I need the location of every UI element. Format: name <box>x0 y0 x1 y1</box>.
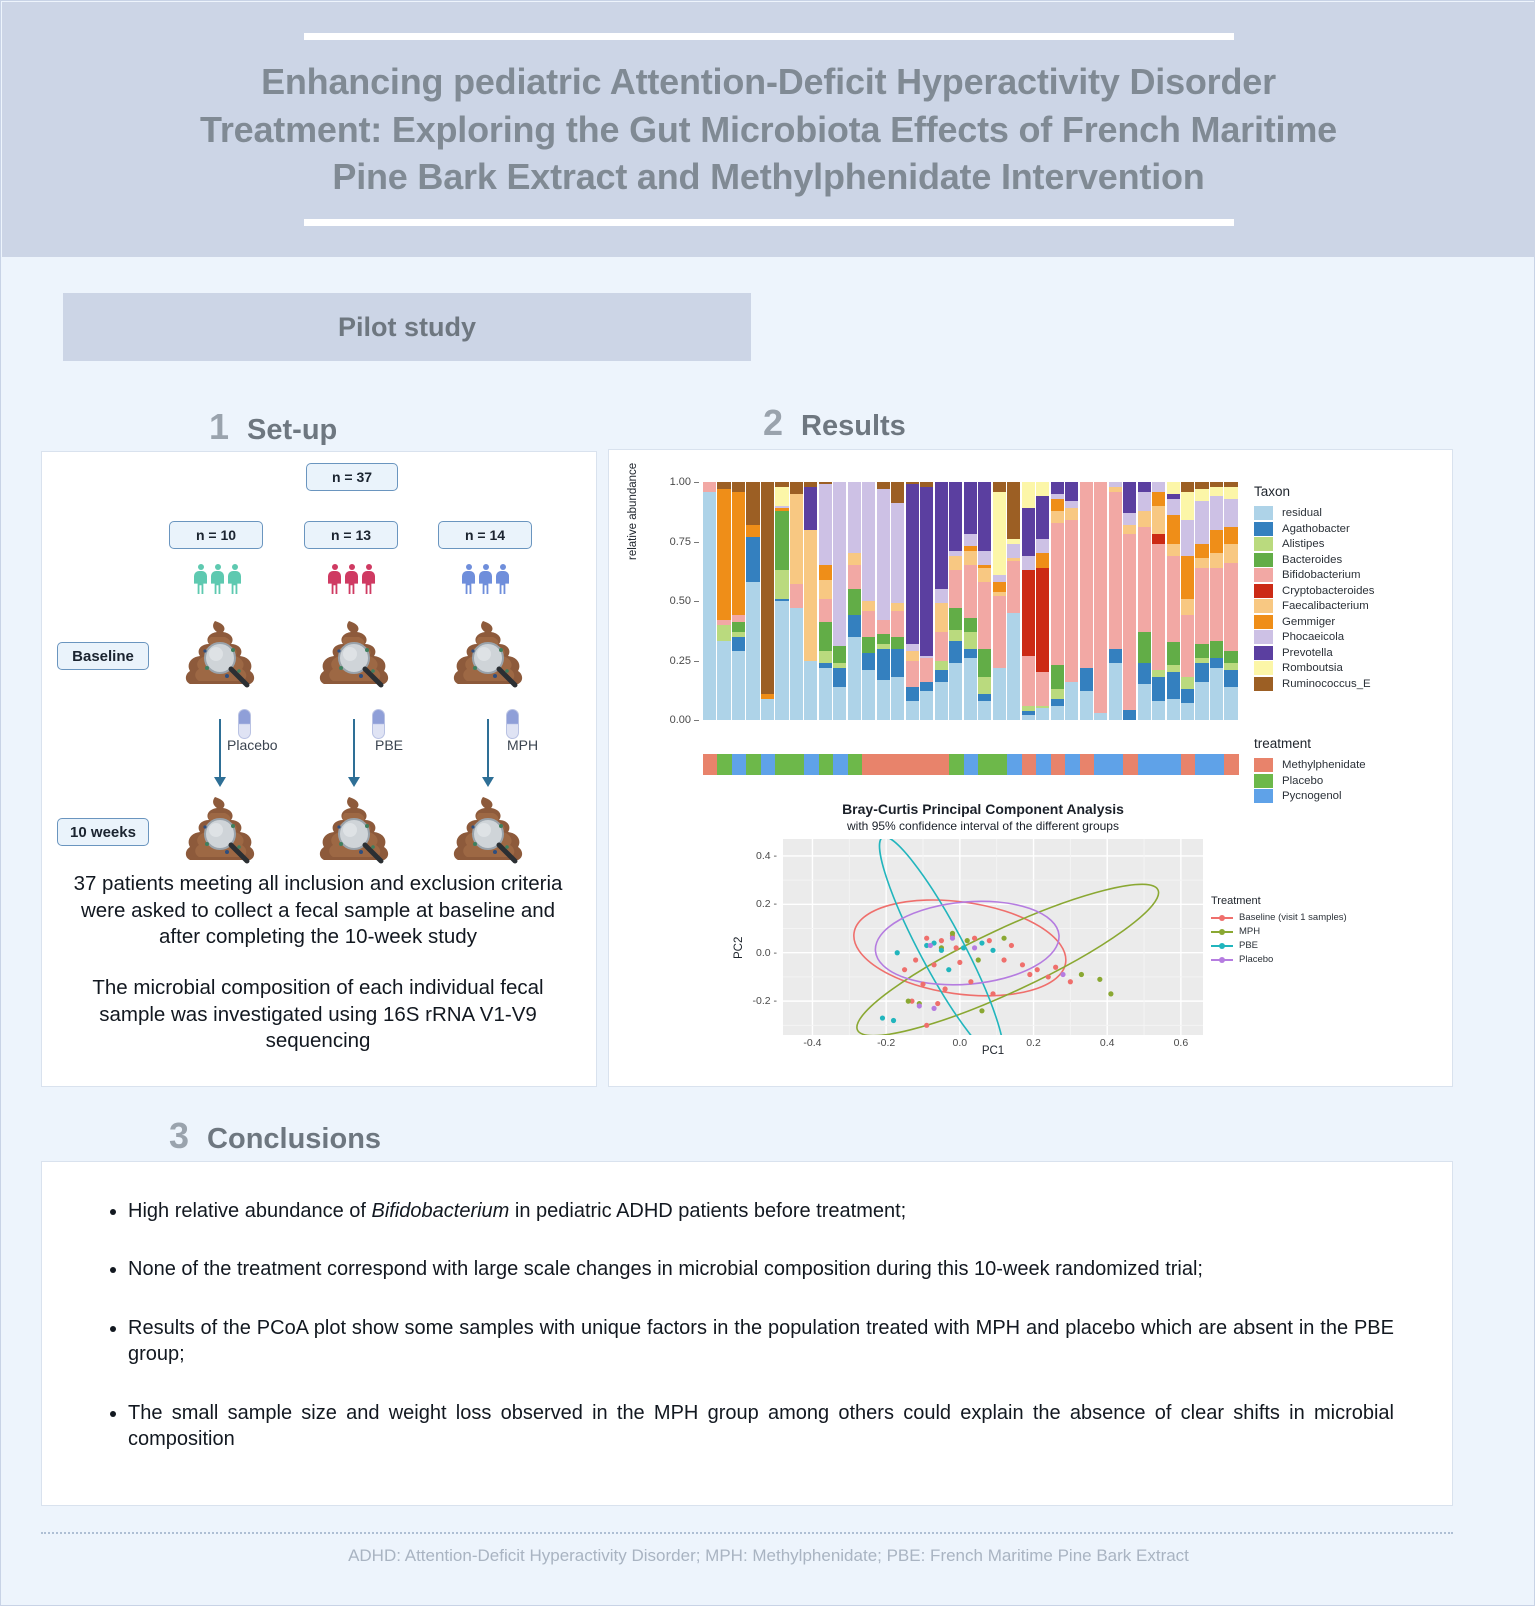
bar-segment <box>1138 482 1151 492</box>
bar-chart-column <box>717 482 730 720</box>
bar-segment <box>1210 668 1223 720</box>
taxon-legend-label: Phocaeicola <box>1282 631 1344 643</box>
treatment-strip-cell <box>848 754 862 775</box>
bar-chart-column <box>1224 482 1237 720</box>
bar-y-tick-mark <box>694 542 699 543</box>
bar-chart-column <box>1094 482 1107 720</box>
pcoa-legend-row: Placebo <box>1211 954 1411 965</box>
bar-segment <box>978 551 991 565</box>
pcoa-legend-label: PBE <box>1239 940 1258 951</box>
bar-segment <box>949 482 962 551</box>
footer-divider <box>41 1532 1453 1534</box>
setup-paragraph-1: 37 patients meeting all inclusion and ex… <box>63 871 573 951</box>
bar-segment <box>906 687 919 701</box>
bar-segment <box>1123 513 1136 525</box>
taxon-legend-label: Cryptobacteroides <box>1282 585 1374 597</box>
taxon-legend-label: Gemmiger <box>1282 616 1335 628</box>
bar-y-tick-label: 0.50 <box>670 595 691 607</box>
pcoa-scatter-chart: Bray-Curtis Principal Component Analysis… <box>703 799 1423 1069</box>
bar-segment <box>717 482 730 489</box>
bar-segment <box>862 611 875 637</box>
bar-chart-column <box>906 482 919 720</box>
bar-segment <box>746 525 759 537</box>
bar-segment <box>1210 658 1223 668</box>
bar-segment <box>1080 668 1093 692</box>
bar-segment <box>993 596 1006 667</box>
bar-chart-y-ticks: 0.000.250.500.751.00 <box>645 482 699 720</box>
treatment-legend-rows: MethylphenidatePlaceboPycnogenol <box>1254 758 1434 803</box>
treatment-strip-cell <box>993 754 1007 775</box>
treatment-legend-swatch <box>1254 758 1273 772</box>
bar-segment <box>891 677 904 720</box>
conclusions-panel: High relative abundance of Bifidobacteri… <box>41 1161 1453 1506</box>
pcoa-svg <box>783 839 1203 1035</box>
bar-segment <box>703 482 716 492</box>
treatment-strip-cell <box>790 754 804 775</box>
treatment-strip-cell <box>1022 754 1036 775</box>
bar-segment <box>1051 665 1064 689</box>
taxon-legend-swatch <box>1254 553 1273 567</box>
bar-segment <box>1138 684 1151 720</box>
section-number-setup: 1 <box>209 406 229 448</box>
bar-segment <box>1051 699 1064 706</box>
bar-segment <box>732 492 745 616</box>
bar-chart-column <box>732 482 745 720</box>
bar-segment <box>1152 482 1165 492</box>
bar-segment <box>906 661 919 687</box>
bar-segment <box>862 482 875 601</box>
bar-segment <box>833 687 846 720</box>
treatment-legend-label: Methylphenidate <box>1282 759 1366 771</box>
bar-segment <box>1195 482 1208 489</box>
taxon-legend-row: Bifidobacterium <box>1254 568 1434 582</box>
taxon-legend-swatch <box>1254 630 1273 644</box>
treatment-legend-row: Methylphenidate <box>1254 758 1434 772</box>
bar-segment <box>1109 649 1122 663</box>
bar-segment <box>1195 501 1208 544</box>
treatment-strip-cell <box>804 754 818 775</box>
bar-segment <box>1080 691 1093 720</box>
treatment-legend-row: Placebo <box>1254 774 1434 788</box>
bar-segment <box>1167 672 1180 698</box>
bar-y-tick-label: 0.25 <box>670 655 691 667</box>
bar-segment <box>804 661 817 721</box>
bar-segment <box>1181 482 1194 492</box>
stool-sample-icon <box>449 789 527 867</box>
pcoa-x-axis-label: PC1 <box>783 1045 1203 1057</box>
treatment-strip-cell <box>906 754 920 775</box>
treatment-strip-cell <box>1007 754 1021 775</box>
pcoa-legend: Treatment Baseline (visit 1 samples)MPHP… <box>1211 895 1411 968</box>
bar-chart-column <box>790 482 803 720</box>
person-icon <box>228 564 241 594</box>
bar-segment <box>964 565 977 617</box>
pcoa-legend-label: Baseline (visit 1 samples) <box>1239 912 1347 923</box>
bar-segment <box>833 668 846 687</box>
footer-abbreviations: ADHD: Attention-Deficit Hyperactivity Di… <box>1 1546 1535 1566</box>
bar-segment <box>920 682 933 692</box>
treatment-strip-cell <box>1051 754 1065 775</box>
bar-segment <box>935 482 948 589</box>
bar-segment <box>1167 642 1180 666</box>
bar-segment <box>920 691 933 720</box>
bar-segment <box>1138 527 1151 632</box>
bar-segment <box>1007 544 1020 558</box>
bar-segment <box>935 632 948 661</box>
bar-chart-column <box>819 482 832 720</box>
bar-segment <box>1195 544 1208 558</box>
taxon-legend-label: residual <box>1282 507 1322 519</box>
bar-segment <box>1022 556 1035 570</box>
pcoa-legend-row: MPH <box>1211 926 1411 937</box>
treatment-strip-cell <box>1195 754 1209 775</box>
bar-segment <box>790 482 803 494</box>
taxon-legend-row: Phocaeicola <box>1254 630 1434 644</box>
treatment-strip-cell <box>1080 754 1094 775</box>
bar-segment <box>1195 663 1208 682</box>
bar-segment <box>1022 656 1035 706</box>
treatment-strip-cell <box>1109 754 1123 775</box>
pcoa-legend-rows: Baseline (visit 1 samples)MPHPBEPlacebo <box>1211 912 1411 965</box>
bar-segment <box>993 482 1006 492</box>
bar-chart-column <box>1123 482 1136 720</box>
taxon-legend-row: Faecalibacterium <box>1254 599 1434 613</box>
bar-segment <box>1123 525 1136 535</box>
bar-segment <box>862 601 875 611</box>
bar-segment <box>877 482 890 489</box>
bar-segment <box>1210 641 1223 658</box>
bar-segment <box>978 694 991 701</box>
bar-chart-column <box>1036 482 1049 720</box>
bar-segment <box>1181 492 1194 521</box>
bar-segment <box>1007 482 1020 539</box>
treatment-strip-cell <box>964 754 978 775</box>
setup-paragraph-2: The microbial composition of each indivi… <box>63 975 573 1055</box>
treatment-strip-cell <box>891 754 905 775</box>
taxon-legend-row: Cryptobacteroides <box>1254 584 1434 598</box>
bar-segment <box>1022 715 1035 720</box>
treatment-strip-cell <box>746 754 760 775</box>
pcoa-y-tick-label: 0.0 ‑ <box>743 947 777 959</box>
treatment-strip-cell <box>775 754 789 775</box>
header-rule-bottom <box>304 219 1234 226</box>
bar-segment <box>877 634 890 644</box>
bar-segment <box>1224 527 1237 544</box>
treatment-strip-cell <box>1036 754 1050 775</box>
taxon-legend-label: Bifidobacterium <box>1282 569 1361 581</box>
bar-segment <box>964 658 977 720</box>
bar-segment <box>1152 506 1165 535</box>
bar-segment <box>1109 492 1122 649</box>
capsule-icon <box>238 709 251 739</box>
bar-segment <box>949 570 962 608</box>
section-heading-setup: 1 Set-up <box>209 406 337 448</box>
bar-segment <box>1022 570 1035 656</box>
taxon-legend-title: Taxon <box>1254 484 1434 499</box>
pcoa-plot-area <box>783 839 1203 1035</box>
bar-chart-column <box>761 482 774 720</box>
bar-segment <box>1036 482 1049 496</box>
bar-segment <box>1181 599 1194 616</box>
bar-segment <box>1152 544 1165 670</box>
bar-chart-column <box>891 482 904 720</box>
bar-segment <box>775 511 788 571</box>
bar-segment <box>746 482 759 525</box>
bar-chart-column <box>848 482 861 720</box>
bar-segment <box>732 615 745 622</box>
bar-chart-column <box>746 482 759 720</box>
bar-segment <box>964 618 977 632</box>
bar-segment <box>1036 708 1049 720</box>
bar-chart-column <box>775 482 788 720</box>
bar-segment <box>717 641 730 720</box>
bar-segment <box>1065 520 1078 682</box>
bar-segment <box>1224 670 1237 687</box>
bar-segment <box>1152 492 1165 506</box>
bar-segment <box>1036 496 1049 539</box>
taxon-legend-label: Romboutsia <box>1282 662 1343 674</box>
bar-segment <box>891 611 904 637</box>
person-icon <box>328 564 341 594</box>
bar-segment <box>1181 520 1194 556</box>
bar-chart-column <box>1210 482 1223 720</box>
bar-segment <box>862 637 875 654</box>
bar-segment <box>949 641 962 662</box>
person-icon <box>194 564 207 594</box>
bar-chart-column <box>1181 482 1194 720</box>
bar-segment <box>993 575 1006 582</box>
bar-segment <box>978 582 991 649</box>
bar-segment <box>862 653 875 670</box>
person-icon <box>496 564 509 594</box>
pcoa-y-tick-label: 0.2 ‑ <box>743 898 777 910</box>
bar-segment <box>732 637 745 651</box>
bar-segment <box>1065 682 1078 720</box>
pcoa-x-tick-label: 0.2 <box>1026 1037 1041 1049</box>
bar-chart-column <box>1080 482 1093 720</box>
treatment-strip-cell <box>703 754 717 775</box>
timepoint-followup-label: 10 weeks <box>57 818 149 846</box>
taxon-legend-row: Alistipes <box>1254 537 1434 551</box>
page-title: Enhancing pediatric Attention-Deficit Hy… <box>174 58 1364 202</box>
bar-segment <box>833 646 846 663</box>
treatment-strip-cell <box>1094 754 1108 775</box>
taxon-legend-swatch <box>1254 568 1273 582</box>
setup-description: 37 patients meeting all inclusion and ex… <box>63 871 573 1055</box>
bar-segment <box>978 482 991 551</box>
patient-group-2-icons <box>328 564 375 594</box>
bar-segment <box>993 582 1006 592</box>
pcoa-title: Bray-Curtis Principal Component Analysis <box>773 801 1193 817</box>
bar-segment <box>1109 663 1122 720</box>
bar-segment <box>732 651 745 720</box>
bar-y-tick-label: 1.00 <box>670 476 691 488</box>
bar-chart-column <box>1109 482 1122 720</box>
stacked-bar-chart: relative abundance 0.000.250.500.751.00 <box>631 474 1239 734</box>
sample-size-total-box: n = 37 <box>306 463 398 491</box>
bar-segment <box>964 551 977 565</box>
pcoa-subtitle: with 95% confidence interval of the diff… <box>743 819 1223 833</box>
taxon-legend-row: Agathobacter <box>1254 522 1434 536</box>
treatment-strip-cell <box>1123 754 1137 775</box>
bar-segment <box>978 677 991 694</box>
bar-segment <box>906 701 919 720</box>
section-number-conclusions: 3 <box>169 1115 189 1157</box>
pilot-study-banner: Pilot study <box>63 293 751 361</box>
bar-segment <box>1210 487 1223 497</box>
bar-segment <box>848 589 861 615</box>
bar-segment <box>891 482 904 503</box>
bar-chart-column <box>993 482 1006 720</box>
bar-segment <box>877 620 890 634</box>
bar-segment <box>819 484 832 565</box>
taxon-legend-row: Gemmiger <box>1254 615 1434 629</box>
bar-segment <box>978 649 991 678</box>
pcoa-legend-title: Treatment <box>1211 895 1411 907</box>
conclusion-item: High relative abundance of Bifidobacteri… <box>128 1198 1394 1224</box>
bar-segment <box>746 582 759 720</box>
bar-chart-column <box>935 482 948 720</box>
taxon-legend-swatch <box>1254 646 1273 660</box>
bar-segment <box>1181 556 1194 599</box>
bar-segment <box>1210 530 1223 554</box>
bar-segment <box>746 537 759 582</box>
bar-chart-column <box>1007 482 1020 720</box>
stool-sample-icon <box>181 789 259 867</box>
treatment-strip-cell <box>949 754 963 775</box>
header-rule-top <box>304 33 1234 40</box>
bar-chart-column <box>964 482 977 720</box>
bar-y-tick-mark <box>694 720 699 721</box>
bar-segment <box>1036 539 1049 553</box>
bar-segment <box>877 489 890 620</box>
bar-segment <box>819 651 832 663</box>
bar-segment <box>935 670 948 682</box>
bar-segment <box>1065 501 1078 508</box>
treatment-legend-title: treatment <box>1254 736 1434 751</box>
taxon-legend-swatch <box>1254 661 1273 675</box>
bar-segment <box>819 668 832 720</box>
sample-size-group-3-box: n = 14 <box>438 521 532 549</box>
stool-sample-icon <box>315 789 393 867</box>
bar-segment <box>1152 670 1165 677</box>
bar-segment <box>935 682 948 720</box>
bar-segment <box>819 622 832 651</box>
capsule-icon <box>372 709 385 739</box>
patient-group-1-icons <box>194 564 241 594</box>
bar-segment <box>906 644 919 651</box>
bar-chart-column <box>920 482 933 720</box>
bar-segment <box>1224 663 1237 670</box>
bar-segment <box>1051 689 1064 699</box>
bar-segment <box>949 608 962 629</box>
person-icon <box>211 564 224 594</box>
taxon-legend-swatch <box>1254 522 1273 536</box>
bar-segment <box>1195 489 1208 501</box>
bar-segment <box>717 489 730 620</box>
bar-segment <box>1065 508 1078 520</box>
treatment-legend-swatch <box>1254 774 1273 788</box>
section-label-results: Results <box>801 410 906 443</box>
bar-segment <box>1007 613 1020 720</box>
pcoa-legend-label: Placebo <box>1239 954 1273 965</box>
pcoa-x-tick-label: 0.6 <box>1174 1037 1189 1049</box>
bar-segment <box>1181 703 1194 720</box>
bar-segment <box>1152 534 1165 544</box>
treatment-legend: treatment MethylphenidatePlaceboPycnogen… <box>1254 736 1434 805</box>
taxon-legend-swatch <box>1254 537 1273 551</box>
bar-segment <box>703 492 716 720</box>
bar-segment <box>1007 561 1020 613</box>
taxon-legend-label: Prevotella <box>1282 647 1333 659</box>
graphical-abstract-page: Enhancing pediatric Attention-Deficit Hy… <box>0 0 1535 1606</box>
bar-segment <box>1195 644 1208 658</box>
taxon-legend-label: Alistipes <box>1282 538 1324 550</box>
capsule-icon <box>506 709 519 739</box>
bar-segment <box>891 503 904 603</box>
bar-segment <box>1195 682 1208 720</box>
treatment-legend-label: Placebo <box>1282 775 1323 787</box>
bar-segment <box>1181 677 1194 689</box>
bar-segment <box>877 649 890 680</box>
bar-segment <box>891 603 904 610</box>
pcoa-legend-row: PBE <box>1211 940 1411 951</box>
treatment-strip-cell <box>920 754 934 775</box>
taxon-legend-label: Faecalibacterium <box>1282 600 1369 612</box>
treatment-strip-cell <box>1181 754 1195 775</box>
treatment-strip-cell <box>1167 754 1181 775</box>
bar-segment <box>1167 556 1180 642</box>
conclusions-list: High relative abundance of Bifidobacteri… <box>104 1198 1394 1452</box>
bar-segment <box>1036 672 1049 705</box>
sample-size-group-2-box: n = 13 <box>304 521 398 549</box>
bar-segment <box>1022 482 1035 508</box>
bar-segment <box>1210 568 1223 642</box>
conclusion-item: The small sample size and weight loss ob… <box>128 1400 1394 1453</box>
pilot-study-label: Pilot study <box>338 312 476 343</box>
conclusion-text: High relative abundance of <box>128 1200 372 1222</box>
treatment-strip-cell <box>877 754 891 775</box>
person-icon <box>479 564 492 594</box>
bar-segment <box>819 580 832 599</box>
bar-chart-column <box>1195 482 1208 720</box>
bar-segment <box>906 651 919 661</box>
bar-chart-column <box>1138 482 1151 720</box>
pcoa-x-tick-label: 0.0 <box>953 1037 968 1049</box>
taxon-legend-row: Romboutsia <box>1254 661 1434 675</box>
bar-segment <box>1094 713 1107 720</box>
bar-segment <box>819 565 832 579</box>
treatment-strip-cell <box>1210 754 1224 775</box>
conclusion-item: None of the treatment correspond with la… <box>128 1256 1394 1282</box>
bar-segment <box>804 530 817 661</box>
bar-segment <box>935 661 948 671</box>
taxon-legend-swatch <box>1254 615 1273 629</box>
bar-chart-column <box>949 482 962 720</box>
bar-segment <box>1210 553 1223 567</box>
conclusion-text-tail: in pediatric ADHD patients before treatm… <box>509 1200 906 1222</box>
bar-segment <box>964 534 977 546</box>
bar-y-tick-mark <box>694 661 699 662</box>
bar-segment <box>1167 482 1180 494</box>
treatment-strip-cell <box>1152 754 1166 775</box>
bar-segment <box>1138 492 1151 511</box>
bar-segment <box>1195 568 1208 644</box>
treatment-strip-cell <box>1065 754 1079 775</box>
bar-segment <box>1152 677 1165 701</box>
taxon-legend-label: Bacteroides <box>1282 554 1342 566</box>
bar-segment <box>993 668 1006 720</box>
